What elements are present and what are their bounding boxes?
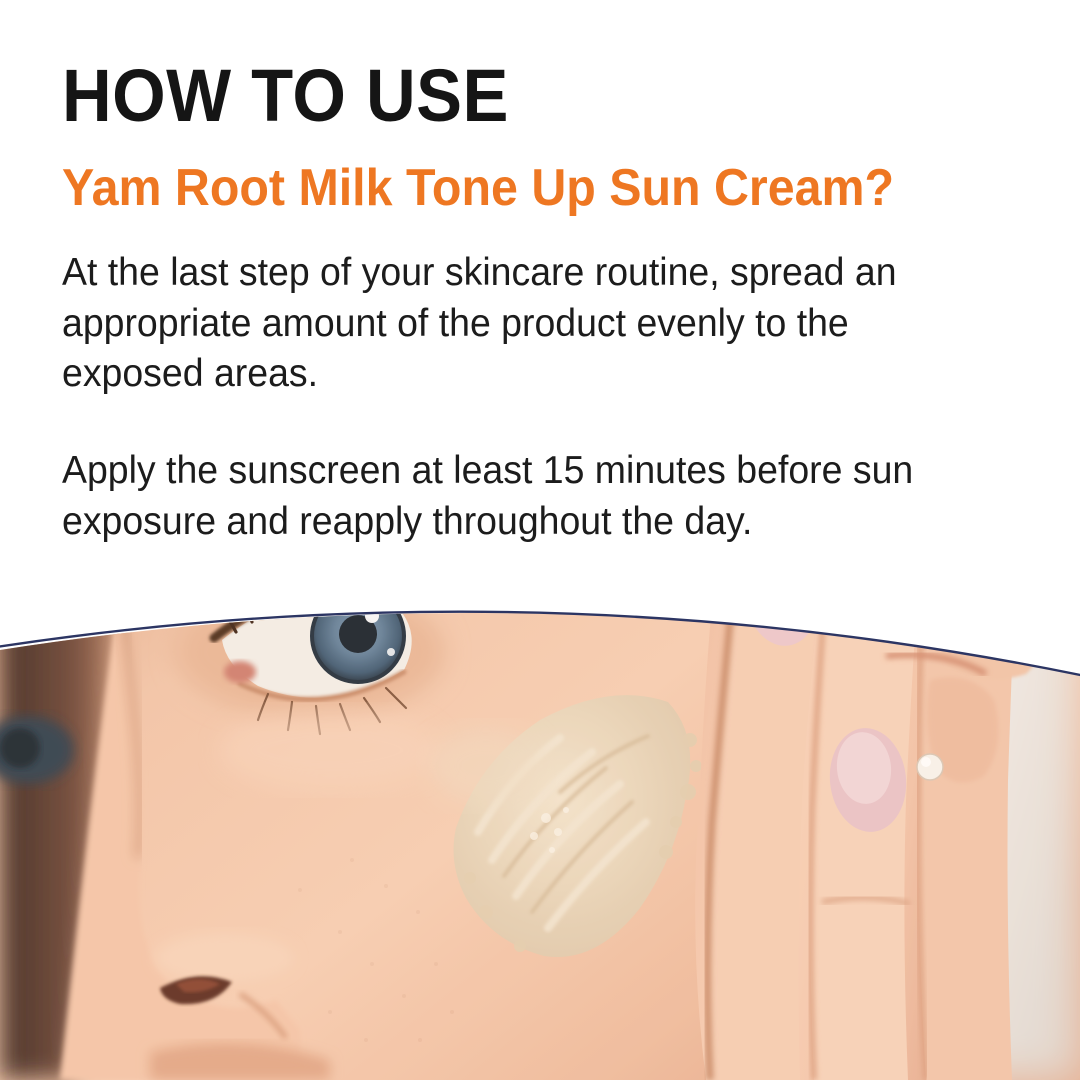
product-subtitle: Yam Root Milk Tone Up Sun Cream? (62, 162, 955, 214)
photo-illustration (0, 560, 1080, 1080)
page-title: HOW TO USE (62, 62, 955, 130)
product-usage-photo (0, 560, 1080, 1080)
poster-root: HOW TO USE Yam Root Milk Tone Up Sun Cre… (0, 0, 1080, 1080)
instruction-paragraph-1: At the last step of your skincare routin… (62, 248, 926, 400)
text-block: HOW TO USE Yam Root Milk Tone Up Sun Cre… (62, 62, 1022, 548)
instruction-paragraph-2: Apply the sunscreen at least 15 minutes … (62, 446, 926, 547)
